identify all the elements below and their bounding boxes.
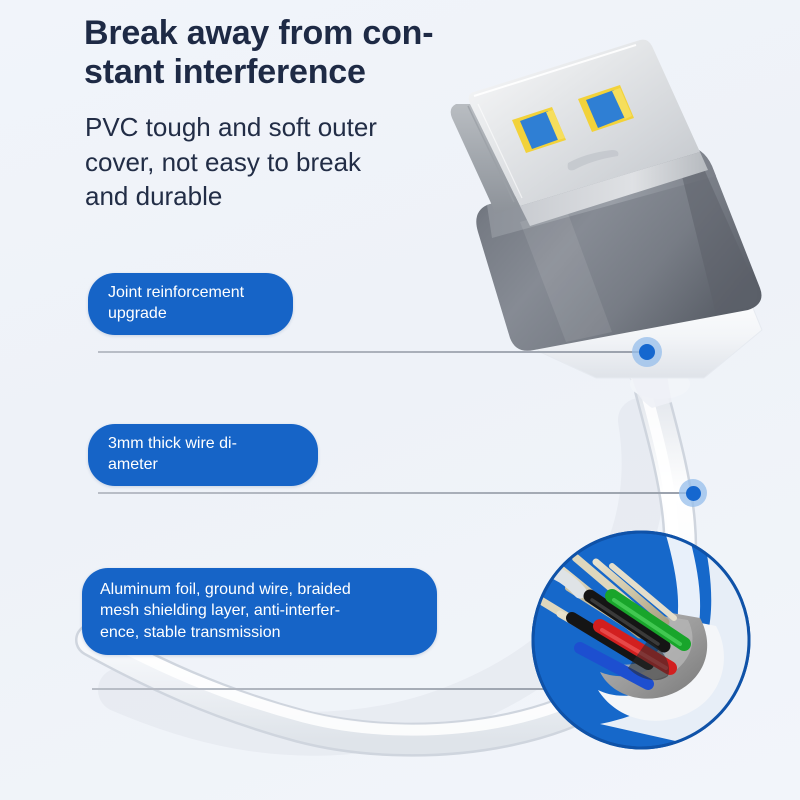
joint-marker-dot[interactable] [632, 337, 662, 367]
cable-cross-section-magnifier [0, 0, 800, 800]
product-feature-infographic: Break away from con- stant interference … [0, 0, 800, 800]
cable-marker-dot[interactable] [679, 479, 707, 507]
